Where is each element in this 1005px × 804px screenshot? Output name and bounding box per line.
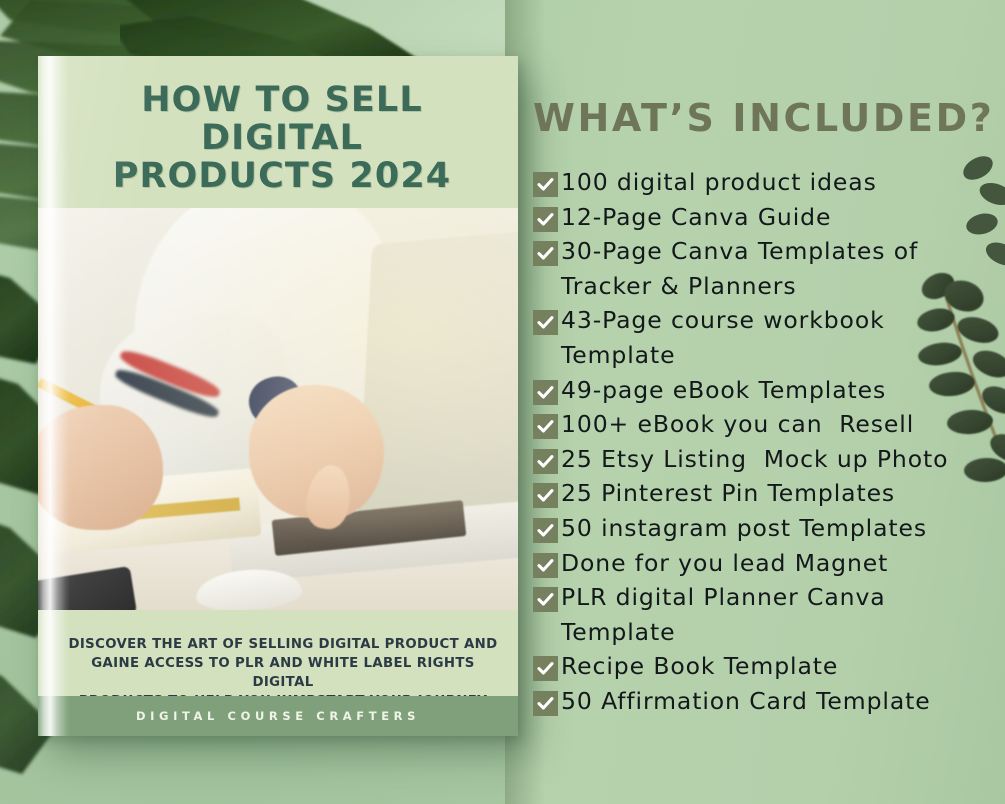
checkbox-checked-icon[interactable] (533, 207, 558, 232)
list-item: 25 Pinterest Pin Templates (533, 477, 995, 511)
list-item-label: Template (561, 616, 675, 650)
poster-canvas: HOW TO SELL DIGITAL PRODUCTS 2024 BEGINN… (0, 0, 1005, 804)
whats-included-panel: WHAT’S INCLUDED? 100 digital product ide… (505, 0, 1005, 804)
list-item-label: 50 Affirmation Card Template (561, 685, 931, 719)
list-item-label: Tracker & Planners (561, 270, 797, 304)
checkbox-checked-icon[interactable] (533, 241, 558, 266)
list-item: Template (533, 616, 995, 650)
list-item-label: Template (561, 339, 675, 373)
list-item-label: 49-page eBook Templates (561, 374, 886, 408)
checkbox-checked-icon[interactable] (533, 656, 558, 681)
checkbox-checked-icon[interactable] (533, 553, 558, 578)
checkbox-checked-icon[interactable] (533, 483, 558, 508)
checkbox-checked-icon[interactable] (533, 380, 558, 405)
list-item-label: 43-Page course workbook (561, 304, 885, 338)
checkbox-checked-icon[interactable] (533, 691, 558, 716)
list-item: 50 Affirmation Card Template (533, 685, 995, 719)
list-item-label: 100 digital product ideas (561, 166, 877, 200)
list-item-label: 100+ eBook you can Resell (561, 408, 914, 442)
included-list: 100 digital product ideas12-Page Canva G… (533, 166, 995, 719)
panel-title: WHAT’S INCLUDED? (533, 96, 995, 140)
list-item: 43-Page course workbook (533, 304, 995, 338)
list-item-label: 30-Page Canva Templates of (561, 235, 918, 269)
checkbox-checked-icon[interactable] (533, 449, 558, 474)
list-item: 30-Page Canva Templates of (533, 235, 995, 269)
checkbox-spacer (533, 345, 558, 370)
list-item: Template (533, 339, 995, 373)
list-item: PLR digital Planner Canva (533, 581, 995, 615)
ebook-cover: HOW TO SELL DIGITAL PRODUCTS 2024 BEGINN… (38, 56, 518, 736)
list-item-label: 50 instagram post Templates (561, 512, 927, 546)
list-item: Recipe Book Template (533, 650, 995, 684)
checkbox-checked-icon[interactable] (533, 172, 558, 197)
checkbox-checked-icon[interactable] (533, 518, 558, 543)
list-item-label: Done for you lead Magnet (561, 547, 888, 581)
list-item: 25 Etsy Listing Mock up Photo (533, 443, 995, 477)
checkbox-spacer (533, 622, 558, 647)
checkbox-checked-icon[interactable] (533, 310, 558, 335)
list-item-label: 25 Pinterest Pin Templates (561, 477, 895, 511)
checkbox-checked-icon[interactable] (533, 414, 558, 439)
list-item: 12-Page Canva Guide (533, 201, 995, 235)
list-item: 50 instagram post Templates (533, 512, 995, 546)
checkbox-checked-icon[interactable] (533, 587, 558, 612)
list-item: 100+ eBook you can Resell (533, 408, 995, 442)
list-item: 100 digital product ideas (533, 166, 995, 200)
list-item: Done for you lead Magnet (533, 547, 995, 581)
checkbox-spacer (533, 276, 558, 301)
list-item-label: 25 Etsy Listing Mock up Photo (561, 443, 948, 477)
list-item-label: 12-Page Canva Guide (561, 201, 831, 235)
list-item-label: PLR digital Planner Canva (561, 581, 886, 615)
list-item: 49-page eBook Templates (533, 374, 995, 408)
book-gloss (38, 56, 518, 736)
list-item-label: Recipe Book Template (561, 650, 838, 684)
list-item: Tracker & Planners (533, 270, 995, 304)
